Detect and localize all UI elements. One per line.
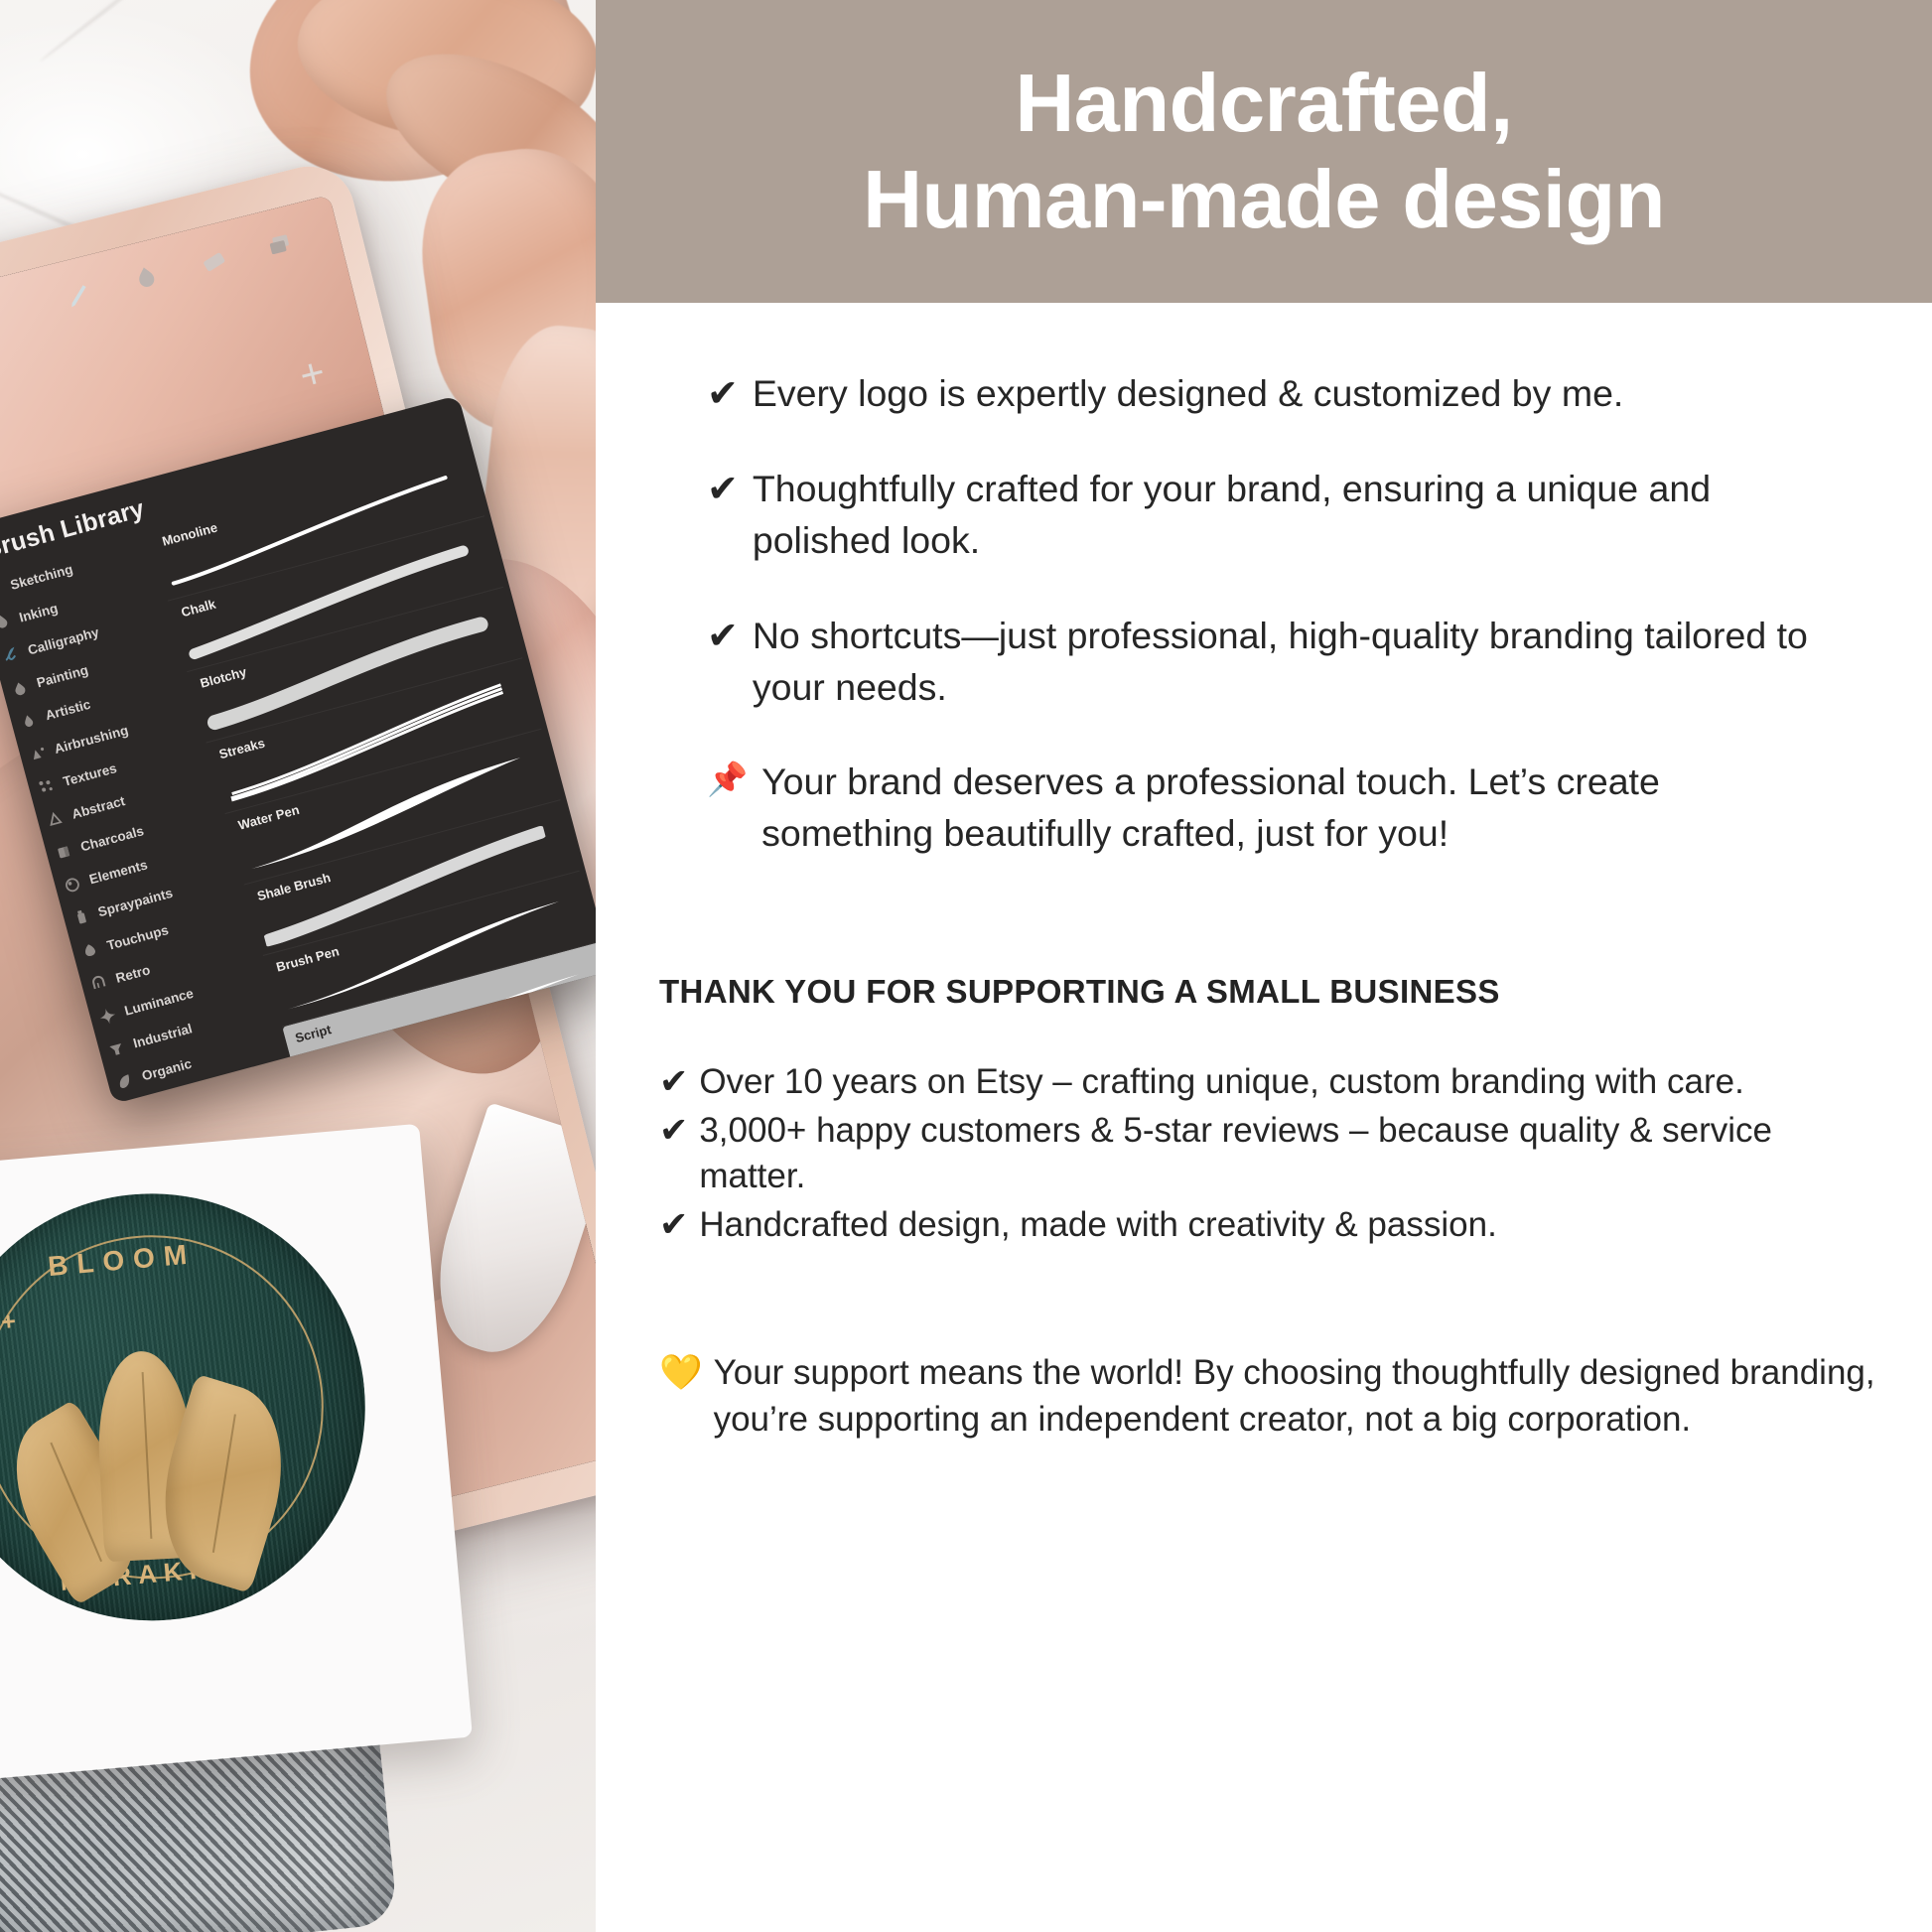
check-icon: ✔	[659, 1202, 688, 1249]
feature-bullet: ✔ No shortcuts—just professional, high-q…	[707, 611, 1878, 714]
poster-root: + Brush Library Sketching Inking	[0, 0, 1932, 1932]
inking-icon	[0, 612, 13, 633]
credential-bullet-text: Over 10 years on Etsy – crafting unique,…	[699, 1059, 1743, 1106]
industrial-icon	[105, 1037, 127, 1059]
organic-leaf-icon	[114, 1070, 136, 1092]
layers-icon[interactable]	[263, 226, 299, 262]
sketching-icon	[0, 579, 4, 601]
feature-bullet-text: Thoughtfully crafted for your brand, ens…	[753, 464, 1815, 567]
brush-category-label: Elements	[87, 858, 149, 888]
textures-icon	[35, 775, 57, 797]
touchups-icon	[79, 939, 101, 961]
product-photo-pane: + Brush Library Sketching Inking	[0, 0, 596, 1932]
feature-bullet-list: ✔ Every logo is expertly designed & cust…	[707, 368, 1878, 903]
brush-category-label: Retro	[114, 962, 152, 986]
closing-message: 💛 Your support means the world! By choos…	[659, 1350, 1900, 1443]
header-banner: Handcrafted, Human-made design	[596, 0, 1932, 303]
check-icon: ✔	[659, 1108, 688, 1200]
feature-bullet-text: Every logo is expertly designed & custom…	[753, 368, 1624, 420]
feature-bullet: ✔ Thoughtfully crafted for your brand, e…	[707, 464, 1878, 567]
pencil-tool-icon[interactable]	[61, 277, 96, 313]
artistic-icon	[18, 710, 40, 732]
pushpin-icon: 📌	[707, 757, 748, 860]
check-icon: ✔	[659, 1059, 688, 1106]
credential-bullet-text: 3,000+ happy customers & 5-star reviews …	[699, 1108, 1870, 1200]
brush-category-label: Artistic	[44, 697, 92, 724]
smudge-tool-icon[interactable]	[128, 260, 164, 296]
yellow-heart-icon: 💛	[659, 1350, 703, 1443]
body-content: ✔ Every logo is expertly designed & cust…	[596, 303, 1932, 1932]
painting-icon	[9, 677, 31, 699]
charcoals-icon	[53, 841, 74, 863]
feature-bullet: 📌 Your brand deserves a professional tou…	[707, 757, 1878, 860]
credential-bullet: ✔ 3,000+ happy customers & 5-star review…	[659, 1108, 1890, 1200]
check-icon: ✔	[707, 464, 739, 567]
check-icon: ✔	[707, 368, 739, 420]
feature-bullet-text: Your brand deserves a professional touch…	[761, 757, 1824, 860]
abstract-icon	[44, 808, 66, 830]
retro-icon	[87, 972, 109, 994]
luminance-icon	[96, 1005, 118, 1027]
text-content-pane: Handcrafted, Human-made design ✔ Every l…	[596, 0, 1932, 1932]
header-title-line-2: Human-made design	[863, 152, 1665, 247]
logo-print-card: + BLOOM MERAKI	[0, 1124, 473, 1785]
credential-bullet: ✔ Over 10 years on Etsy – crafting uniqu…	[659, 1059, 1890, 1106]
credential-bullet-text: Handcrafted design, made with creativity…	[699, 1202, 1496, 1249]
feature-bullet: ✔ Every logo is expertly designed & cust…	[707, 368, 1878, 420]
credentials-bullet-list: ✔ Over 10 years on Etsy – crafting uniqu…	[659, 1059, 1890, 1250]
spraypaints-icon	[70, 906, 92, 928]
elements-icon	[62, 874, 83, 896]
header-title-line-1: Handcrafted,	[1015, 56, 1512, 151]
logo-separator: +	[0, 1308, 18, 1337]
brush-category-label: Painting	[35, 662, 89, 690]
eraser-tool-icon[interactable]	[196, 243, 231, 279]
feature-bullet-text: No shortcuts—just professional, high-qua…	[753, 611, 1815, 714]
brush-category-label: Organic	[140, 1056, 193, 1084]
brush-category-label: Textures	[62, 760, 118, 789]
brand-logo-badge: + BLOOM MERAKI	[0, 1175, 383, 1638]
airbrushing-icon	[26, 743, 48, 764]
check-icon: ✔	[707, 611, 739, 714]
closing-message-text: Your support means the world! By choosin…	[714, 1350, 1895, 1443]
brush-category-label: Abstract	[70, 793, 127, 822]
thank-you-heading: THANK YOU FOR SUPPORTING A SMALL BUSINES…	[659, 973, 1500, 1011]
logo-brand-top: BLOOM	[47, 1238, 197, 1283]
calligraphy-icon	[0, 644, 22, 666]
brush-category-label: Inking	[18, 601, 60, 625]
credential-bullet: ✔ Handcrafted design, made with creativi…	[659, 1202, 1890, 1249]
